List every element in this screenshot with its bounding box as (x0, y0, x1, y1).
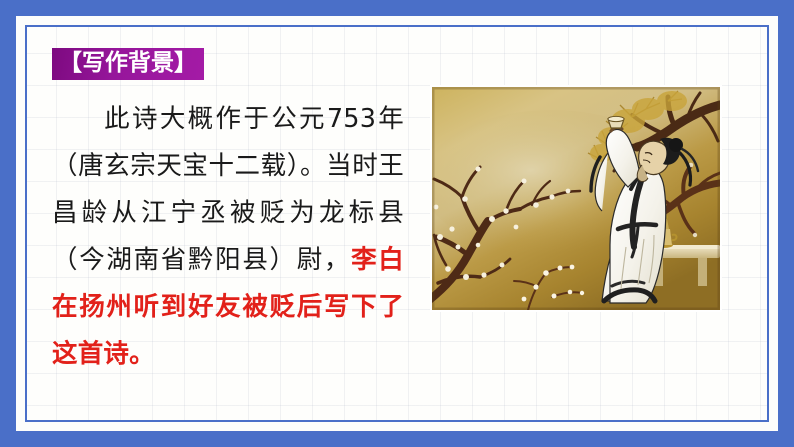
background-paragraph: 此诗大概作于公元753年（唐玄宗天宝十二载）。当时王昌龄从江宁丞被贬为龙标县（今… (52, 96, 404, 378)
slide-root: 【写作背景】 此诗大概作于公元753年（唐玄宗天宝十二载）。当时王昌龄从江宁丞被… (0, 0, 794, 447)
painting-artwork-icon (432, 87, 720, 310)
illustration-frame (430, 85, 722, 312)
slide-canvas: 【写作背景】 此诗大概作于公元753年（唐玄宗天宝十二载）。当时王昌龄从江宁丞被… (27, 27, 767, 420)
section-heading-badge: 【写作背景】 (52, 48, 204, 80)
illustration-painting (432, 87, 720, 310)
